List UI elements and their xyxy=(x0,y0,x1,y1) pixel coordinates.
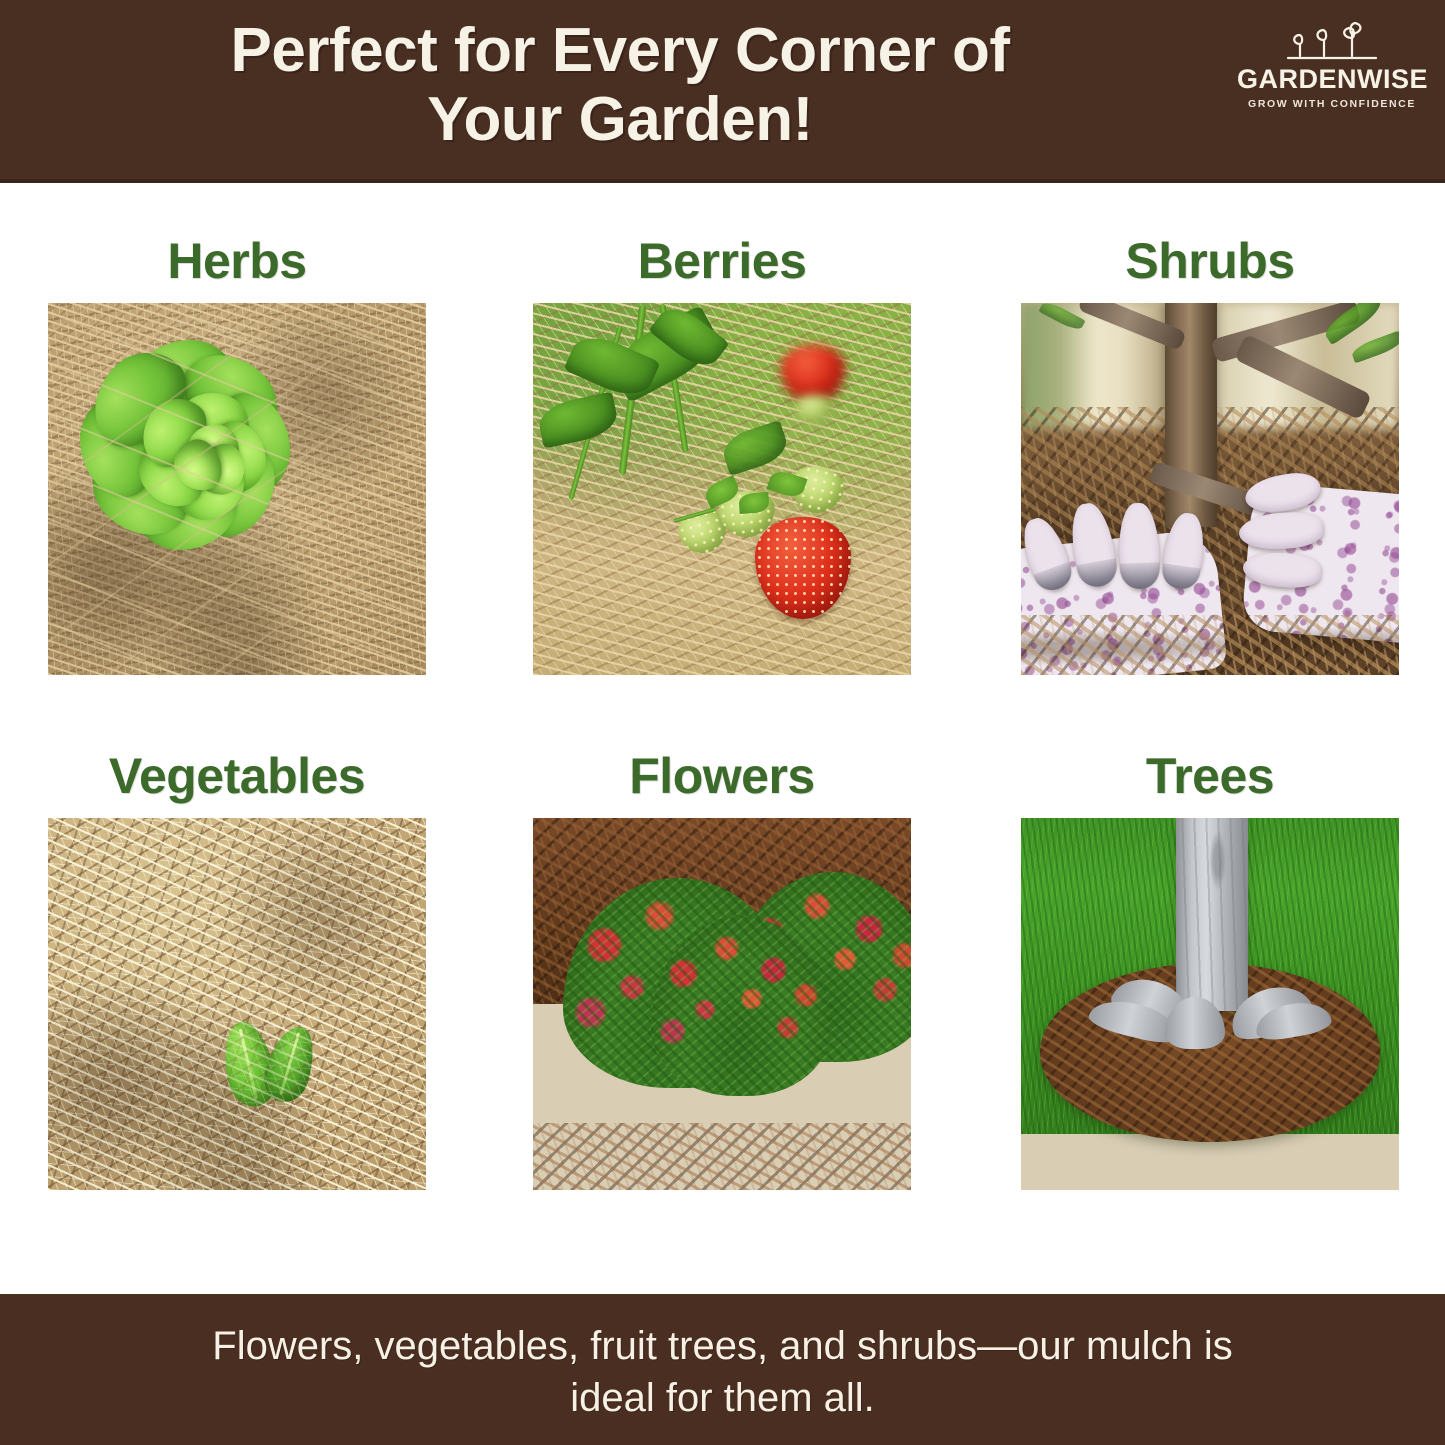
category-cell-shrubs: Shrubs xyxy=(1021,219,1399,675)
logo-tagline: GROW WITH CONFIDENCE xyxy=(1237,98,1427,110)
footer-banner: Flowers, vegetables, fruit trees, and sh… xyxy=(0,1294,1445,1445)
category-label-flowers: Flowers xyxy=(533,734,911,818)
page-title: Perfect for Every Corner of Your Garden! xyxy=(30,16,1210,155)
category-label-trees: Trees xyxy=(1021,734,1399,818)
category-image-trees xyxy=(1021,818,1399,1190)
logo-wordmark: GARDENWISE xyxy=(1237,64,1427,95)
footer-tagline: Flowers, vegetables, fruit trees, and sh… xyxy=(90,1320,1355,1424)
category-cell-vegetables: Vegetables xyxy=(48,734,426,1190)
category-label-berries: Berries xyxy=(533,219,911,303)
category-image-vegetables xyxy=(48,818,426,1190)
brand-logo: GARDENWISE GROW WITH CONFIDENCE xyxy=(1237,20,1427,118)
category-image-herbs xyxy=(48,303,426,675)
category-label-shrubs: Shrubs xyxy=(1021,219,1399,303)
header-banner: Perfect for Every Corner of Your Garden!… xyxy=(0,0,1445,183)
category-label-vegetables: Vegetables xyxy=(48,734,426,818)
category-image-flowers xyxy=(533,818,911,1190)
category-label-herbs: Herbs xyxy=(48,219,426,303)
tree-trunk xyxy=(1176,818,1248,1011)
category-cell-flowers: Flowers xyxy=(533,734,911,1190)
three-sprouts-icon xyxy=(1284,20,1380,64)
category-cell-berries: Berries xyxy=(533,219,911,675)
category-cell-herbs: Herbs xyxy=(48,219,426,675)
category-grid: Herbs xyxy=(0,183,1445,1294)
category-image-berries xyxy=(533,303,911,675)
category-image-shrubs xyxy=(1021,303,1399,675)
category-cell-trees: Trees xyxy=(1021,734,1399,1190)
